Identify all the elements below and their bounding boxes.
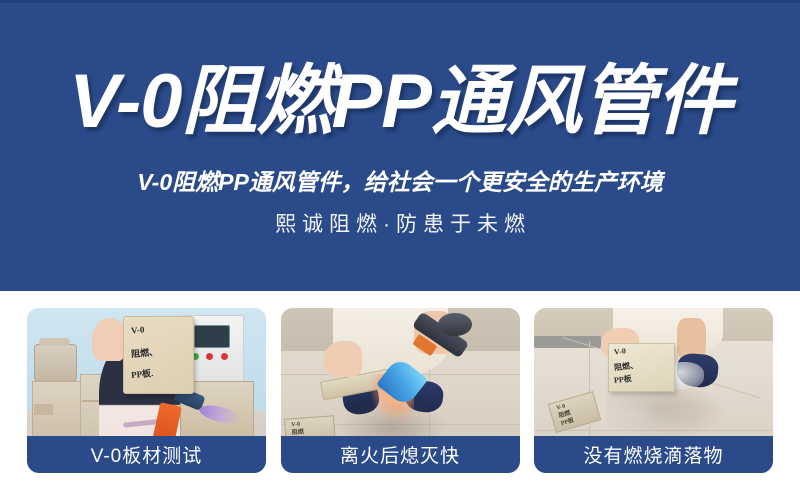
promo-banner-page: V-0阻燃PP通风管件 V-0阻燃PP通风管件，给社会一个更安全的生产环境 熙诚… xyxy=(0,0,800,504)
feature-card[interactable]: V-0 阻燃、 PP板. V-0板材测试 xyxy=(27,308,266,473)
handwritten-sign: V-0 阻燃、 PP板. xyxy=(123,316,194,394)
sign-line-1: V-0 xyxy=(130,324,144,335)
page-title: V-0阻燃PP通风管件 xyxy=(0,56,800,148)
hero-subtitle: V-0阻燃PP通风管件，给社会一个更安全的生产环境 xyxy=(0,166,800,198)
handwritten-board: V-0 阻燃、 PP板 xyxy=(608,343,675,393)
hero-tagline: 熙诚阻燃·防患于未燃 xyxy=(0,209,800,241)
feature-card[interactable]: V-0 阻燃 PP板 离火后熄灭快 xyxy=(281,308,520,473)
sign-line-2: 阻燃、 xyxy=(130,345,158,360)
board-line-3: PP板 xyxy=(614,373,633,386)
board-line-2: 阻燃、 xyxy=(614,360,639,373)
plate-line-1: V-0 xyxy=(291,421,300,429)
hero-banner: V-0阻燃PP通风管件 V-0阻燃PP通风管件，给社会一个更安全的生产环境 熙诚… xyxy=(0,0,800,291)
card-label: V-0板材测试 xyxy=(27,436,266,473)
board-line-1: V-0 xyxy=(614,347,627,357)
hero-top-accent-line xyxy=(0,0,800,3)
feature-card[interactable]: V-0 阻燃、 PP板 V-0 阻燃 PP板 没有燃烧滴落物 xyxy=(534,308,773,473)
card-label: 没有燃烧滴落物 xyxy=(534,436,773,473)
card-label: 离火后熄灭快 xyxy=(281,436,520,473)
sign-line-3: PP板. xyxy=(130,366,153,381)
feature-card-strip: V-0 阻燃、 PP板. V-0板材测试 xyxy=(27,308,773,473)
